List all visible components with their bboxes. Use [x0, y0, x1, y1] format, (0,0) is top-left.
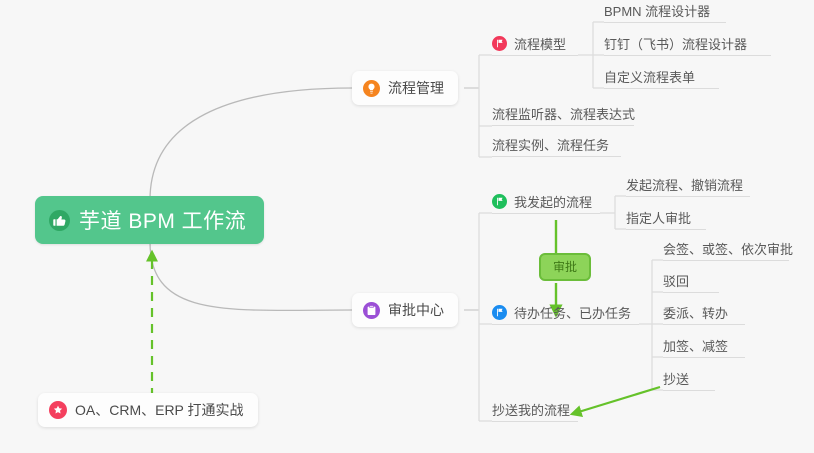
leaf-dingtalk-designer[interactable]: 钉钉（飞书）流程设计器	[604, 39, 771, 56]
node-process-model[interactable]: 流程模型	[492, 38, 578, 56]
leaf-custom-form-label: 自定义流程表单	[604, 70, 695, 85]
clipboard-icon	[363, 302, 380, 319]
node-todo-done-tasks[interactable]: 待办任务、已办任务	[492, 307, 639, 325]
leaf-process-instance-label: 流程实例、流程任务	[492, 138, 609, 153]
leaf-bpmn-designer[interactable]: BPMN 流程设计器	[604, 6, 726, 23]
root-node[interactable]: 芋道 BPM 工作流	[35, 196, 264, 244]
thumbs-up-icon	[49, 210, 70, 231]
tag-approval-label: 审批	[553, 260, 577, 274]
root-label: 芋道 BPM 工作流	[79, 205, 246, 235]
link-root-to-approval-center	[150, 242, 352, 310]
leaf-process-instance[interactable]: 流程实例、流程任务	[492, 140, 621, 157]
leaf-start-cancel-process-label: 发起流程、撤销流程	[626, 178, 743, 193]
leaf-countersign[interactable]: 会签、或签、依次审批	[663, 244, 789, 261]
node-my-started-processes[interactable]: 我发起的流程	[492, 196, 600, 214]
leaf-process-listener[interactable]: 流程监听器、流程表达式	[492, 109, 634, 126]
node-approval-center[interactable]: 审批中心	[352, 293, 458, 327]
flag-icon	[492, 36, 507, 51]
mindmap-canvas: 芋道 BPM 工作流 流程管理 流程模型 BPMN 流程设计器 钉钉（飞书）流程…	[0, 0, 814, 453]
leaf-bpmn-designer-label: BPMN 流程设计器	[604, 4, 710, 19]
leaf-reject[interactable]: 驳回	[663, 276, 719, 293]
link-root-to-process-management	[150, 88, 352, 200]
node-process-model-label: 流程模型	[514, 37, 566, 52]
leaf-process-listener-label: 流程监听器、流程表达式	[492, 107, 635, 122]
node-approval-center-label: 审批中心	[388, 300, 444, 320]
leaf-assignee-approval[interactable]: 指定人审批	[626, 213, 706, 230]
leaf-assignee-approval-label: 指定人审批	[626, 211, 691, 226]
tag-approval: 审批	[539, 253, 591, 281]
leaf-delegate-transfer[interactable]: 委派、转办	[663, 308, 745, 325]
node-integration-practice[interactable]: OA、CRM、ERP 打通实战	[38, 393, 258, 427]
node-integration-practice-label: OA、CRM、ERP 打通实战	[75, 400, 244, 420]
flag-icon	[492, 194, 507, 209]
leaf-custom-form[interactable]: 自定义流程表单	[604, 72, 719, 89]
leaf-cc-to-me-processes-label: 抄送我的流程	[492, 403, 570, 418]
star-icon	[49, 401, 67, 419]
leaf-cc-label: 抄送	[663, 372, 689, 387]
flag-icon	[492, 305, 507, 320]
leaf-cc-to-me-processes[interactable]: 抄送我的流程	[492, 405, 578, 422]
leaf-countersign-label: 会签、或签、依次审批	[663, 242, 793, 257]
leaf-add-remove-sign[interactable]: 加签、减签	[663, 341, 745, 358]
leaf-add-remove-sign-label: 加签、减签	[663, 339, 728, 354]
node-my-started-processes-label: 我发起的流程	[514, 195, 592, 210]
leaf-delegate-transfer-label: 委派、转办	[663, 306, 728, 321]
node-todo-done-tasks-label: 待办任务、已办任务	[514, 306, 631, 321]
leaf-dingtalk-designer-label: 钉钉（飞书）流程设计器	[604, 37, 747, 52]
node-process-management[interactable]: 流程管理	[352, 71, 458, 105]
annotation-cc-flow-arrow	[572, 387, 660, 414]
leaf-start-cancel-process[interactable]: 发起流程、撤销流程	[626, 180, 750, 197]
node-process-management-label: 流程管理	[388, 78, 444, 98]
lightbulb-icon	[363, 80, 380, 97]
leaf-cc[interactable]: 抄送	[663, 374, 715, 391]
leaf-reject-label: 驳回	[663, 274, 689, 289]
